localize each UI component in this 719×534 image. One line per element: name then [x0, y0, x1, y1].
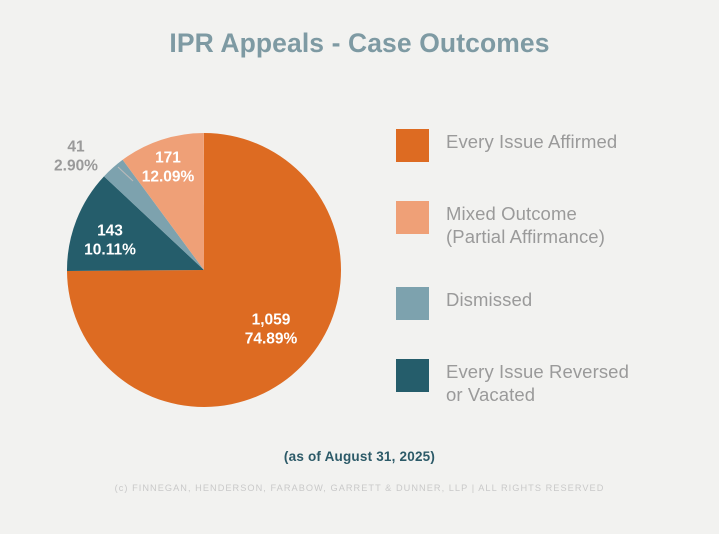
chart-legend: Every Issue Affirmed Mixed Outcome (Part… [396, 128, 696, 407]
legend-swatch-icon [396, 129, 429, 162]
pie-slice-label: 412.90% [54, 138, 98, 174]
as-of-date: (as of August 31, 2025) [0, 449, 719, 464]
legend-item-label: Every Issue Reversed or Vacated [446, 358, 629, 406]
chart-page: IPR Appeals - Case Outcomes 1,05974.89%1… [0, 0, 719, 534]
legend-item-dismissed[interactable]: Dismissed [396, 286, 696, 320]
legend-swatch-icon [396, 287, 429, 320]
copyright-notice: (c) FINNEGAN, HENDERSON, FARABOW, GARRET… [0, 483, 719, 493]
legend-item-label: Every Issue Affirmed [446, 128, 617, 153]
legend-item-every-issue-affirmed[interactable]: Every Issue Affirmed [396, 128, 696, 162]
pie-slices-group [67, 133, 341, 407]
legend-item-label: Mixed Outcome (Partial Affirmance) [446, 200, 605, 248]
legend-swatch-icon [396, 359, 429, 392]
legend-swatch-icon [396, 201, 429, 234]
legend-item-mixed-outcome[interactable]: Mixed Outcome (Partial Affirmance) [396, 200, 696, 248]
legend-item-every-issue-reversed[interactable]: Every Issue Reversed or Vacated [396, 358, 696, 406]
legend-item-label: Dismissed [446, 286, 532, 311]
